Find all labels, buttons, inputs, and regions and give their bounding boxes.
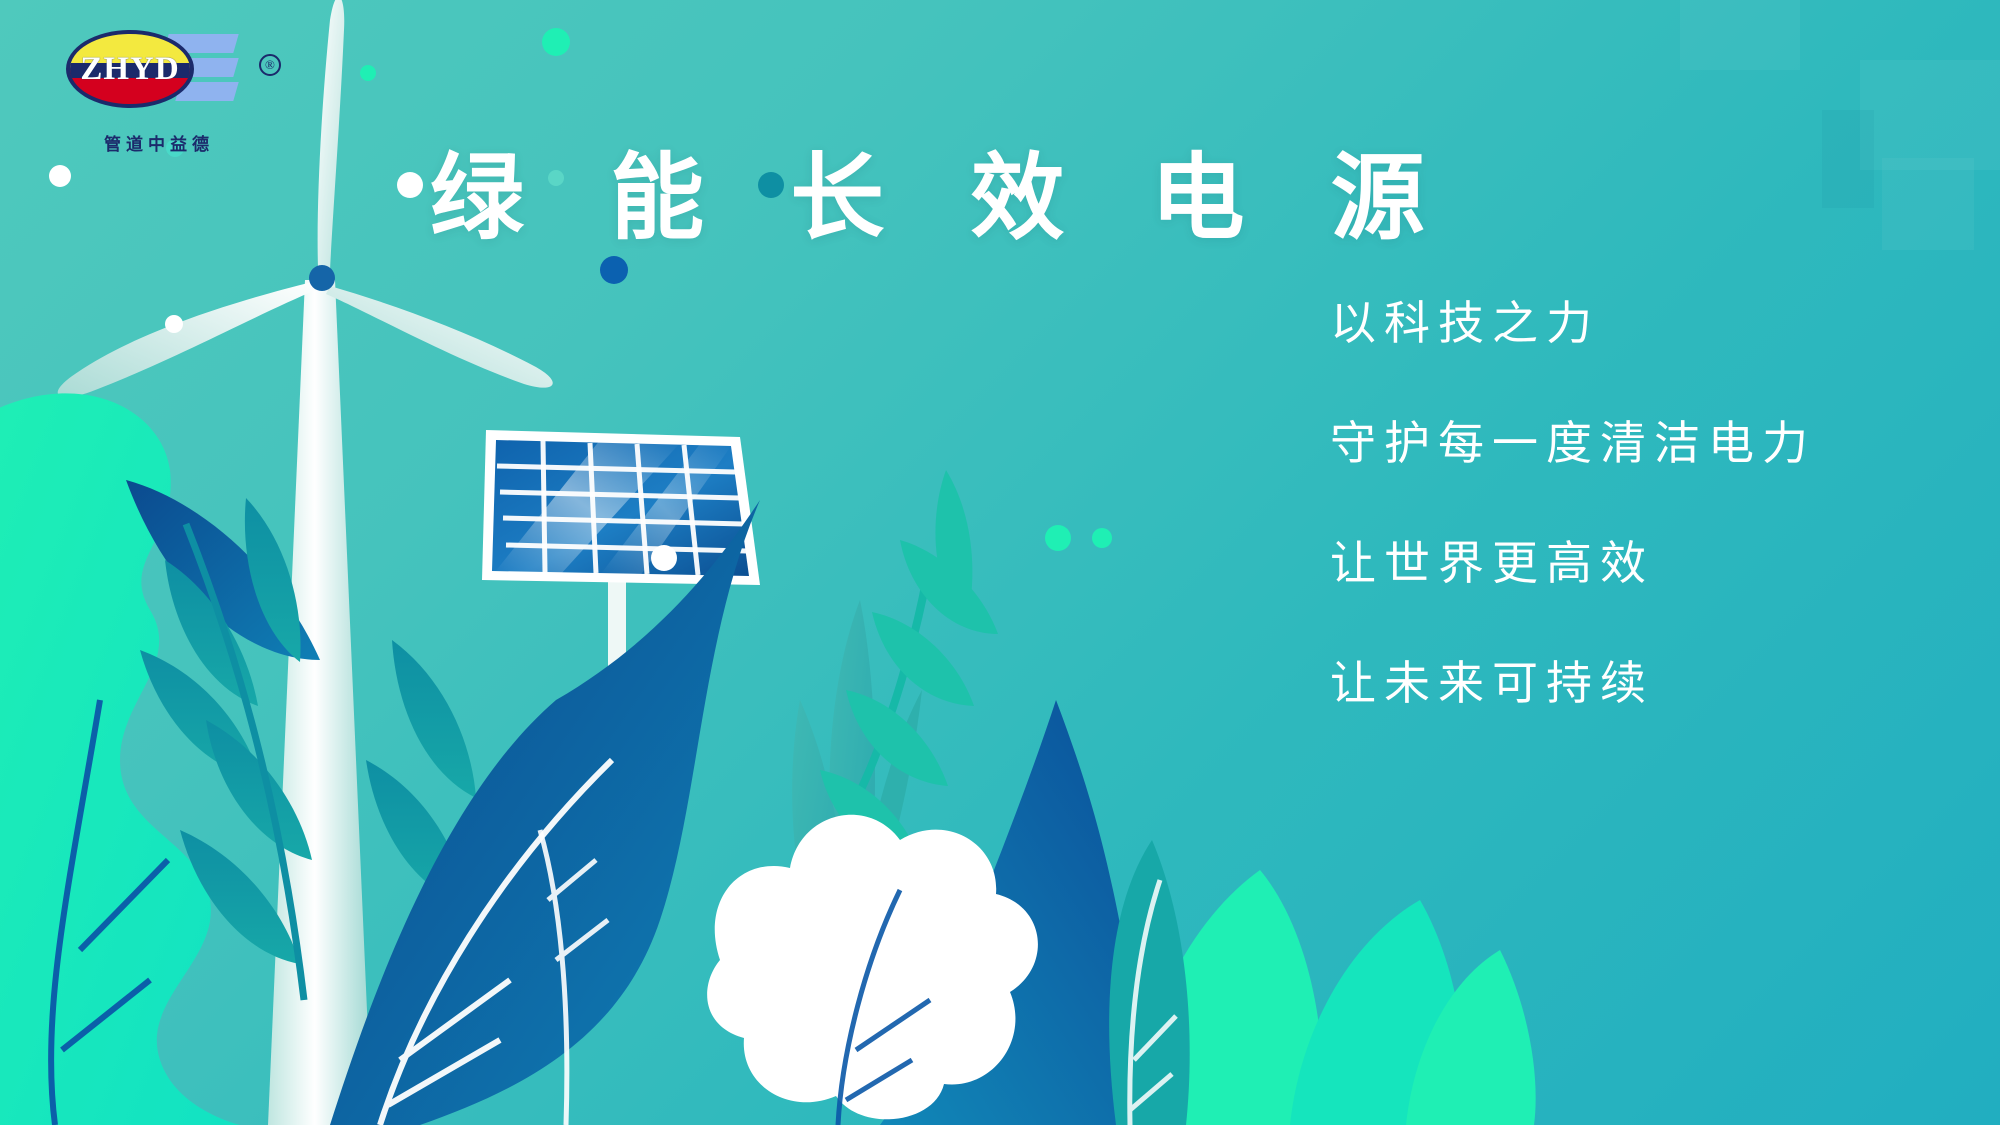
tagline-line-3: 让世界更高效 — [1330, 540, 1950, 586]
dot — [360, 65, 376, 81]
dot — [600, 256, 628, 284]
dot — [165, 315, 183, 333]
logo-subtitle: 管道中益德 — [104, 130, 264, 155]
bg-square — [1822, 110, 1874, 208]
registered-mark-icon: ® — [259, 54, 281, 76]
tagline-line-4: 让未来可持续 — [1330, 660, 1950, 706]
dot — [397, 172, 423, 198]
bg-square — [1680, 0, 1800, 70]
dot — [542, 28, 570, 56]
bg-square — [1860, 60, 2000, 170]
page-title: 绿 能 长 效 电 源 — [430, 151, 1455, 245]
poster-canvas: ZHYD ® 管道中益德 绿 能 长 效 电 源 以科技之力 守护每一度清洁电力… — [0, 0, 2000, 1125]
logo-ellipse: ZHYD — [66, 30, 194, 108]
dot — [1092, 528, 1112, 548]
logo-wordmark: ZHYD — [70, 34, 190, 104]
company-logo[interactable]: ZHYD ® 管道中益德 — [48, 18, 238, 128]
bg-square — [1882, 158, 1974, 250]
dot — [49, 165, 71, 187]
tagline-line-1: 以科技之力 — [1330, 300, 1950, 346]
dot — [1045, 525, 1071, 551]
tagline-line-2: 守护每一度清洁电力 — [1330, 420, 1950, 466]
tagline-block: 以科技之力 守护每一度清洁电力 让世界更高效 让未来可持续 — [1330, 300, 1950, 706]
